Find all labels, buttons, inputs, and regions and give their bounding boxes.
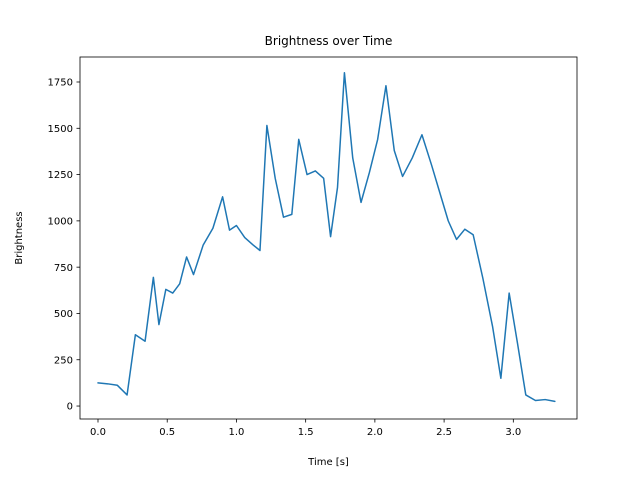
y-axis-label: Brightness — [14, 211, 25, 264]
y-tick-label: 1000 — [48, 216, 73, 227]
y-tick-label: 0 — [67, 402, 73, 413]
y-tick-label: 1500 — [48, 124, 73, 135]
matplotlib-figure: Brightness over Time Time [s] Brightness… — [0, 0, 640, 480]
x-tick-label: 0.0 — [90, 427, 106, 438]
x-tick-label: 2.0 — [367, 427, 383, 438]
figure-background — [0, 0, 640, 480]
y-tick-label: 250 — [54, 355, 73, 366]
y-tick-label: 1750 — [48, 78, 73, 89]
x-tick-label: 1.5 — [298, 427, 314, 438]
x-tick-label: 0.5 — [159, 427, 175, 438]
x-tick-label: 1.0 — [228, 427, 244, 438]
x-tick-label: 2.5 — [436, 427, 452, 438]
chart-title: Brightness over Time — [265, 34, 393, 48]
y-tick-label: 500 — [54, 309, 73, 320]
x-axis-label: Time [s] — [307, 457, 349, 468]
y-tick-label: 750 — [54, 263, 73, 274]
y-tick-label: 1250 — [48, 170, 73, 181]
brightness-over-time-chart: Brightness over Time Time [s] Brightness… — [0, 0, 640, 480]
x-tick-label: 3.0 — [505, 427, 521, 438]
